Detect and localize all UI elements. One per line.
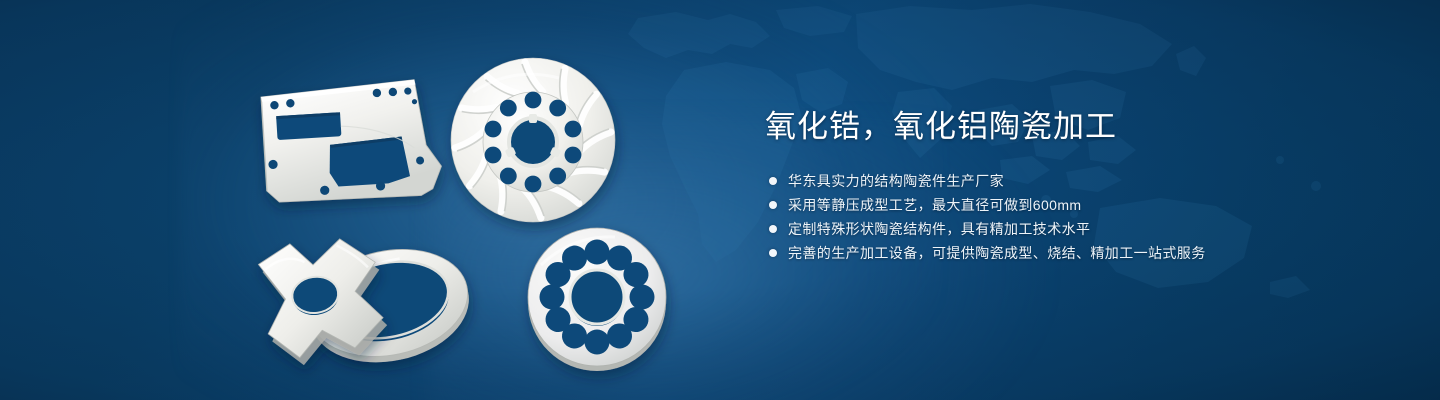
feature-text: 完善的生产加工设备，可提供陶瓷成型、烧结、精加工一站式服务 (788, 241, 1206, 265)
bullet-dot-icon (769, 249, 777, 257)
feature-text: 采用等静压成型工艺，最大直径可做到600mm (788, 193, 1081, 217)
ceramic-perforated-disc (528, 228, 666, 371)
promo-banner: 氧化锆，氧化铝陶瓷加工 华东具实力的结构陶瓷件生产厂家 采用等静压成型工艺，最大… (0, 0, 1440, 400)
feature-item-3: 定制特殊形状陶瓷结构件，具有精加工技术水平 (769, 217, 1385, 241)
bullet-dot-icon (769, 201, 777, 209)
product-photo-group (0, 0, 720, 400)
feature-item-2: 采用等静压成型工艺，最大直径可做到600mm (769, 193, 1385, 217)
ceramic-machined-plate (260, 78, 443, 205)
feature-item-4: 完善的生产加工设备，可提供陶瓷成型、烧结、精加工一站式服务 (769, 241, 1385, 265)
feature-list: 华东具实力的结构陶瓷件生产厂家 采用等静压成型工艺，最大直径可做到600mm 定… (769, 169, 1385, 265)
feature-item-1: 华东具实力的结构陶瓷件生产厂家 (769, 169, 1385, 193)
banner-headline: 氧化锆，氧化铝陶瓷加工 (765, 106, 1385, 148)
banner-copy: 氧化锆，氧化铝陶瓷加工 华东具实力的结构陶瓷件生产厂家 采用等静压成型工艺，最大… (765, 106, 1385, 265)
bullet-dot-icon (769, 225, 777, 233)
ceramic-vaned-impeller (451, 58, 615, 222)
feature-text: 华东具实力的结构陶瓷件生产厂家 (788, 169, 1004, 193)
feature-text: 定制特殊形状陶瓷结构件，具有精加工技术水平 (788, 217, 1090, 241)
bullet-dot-icon (769, 177, 777, 185)
